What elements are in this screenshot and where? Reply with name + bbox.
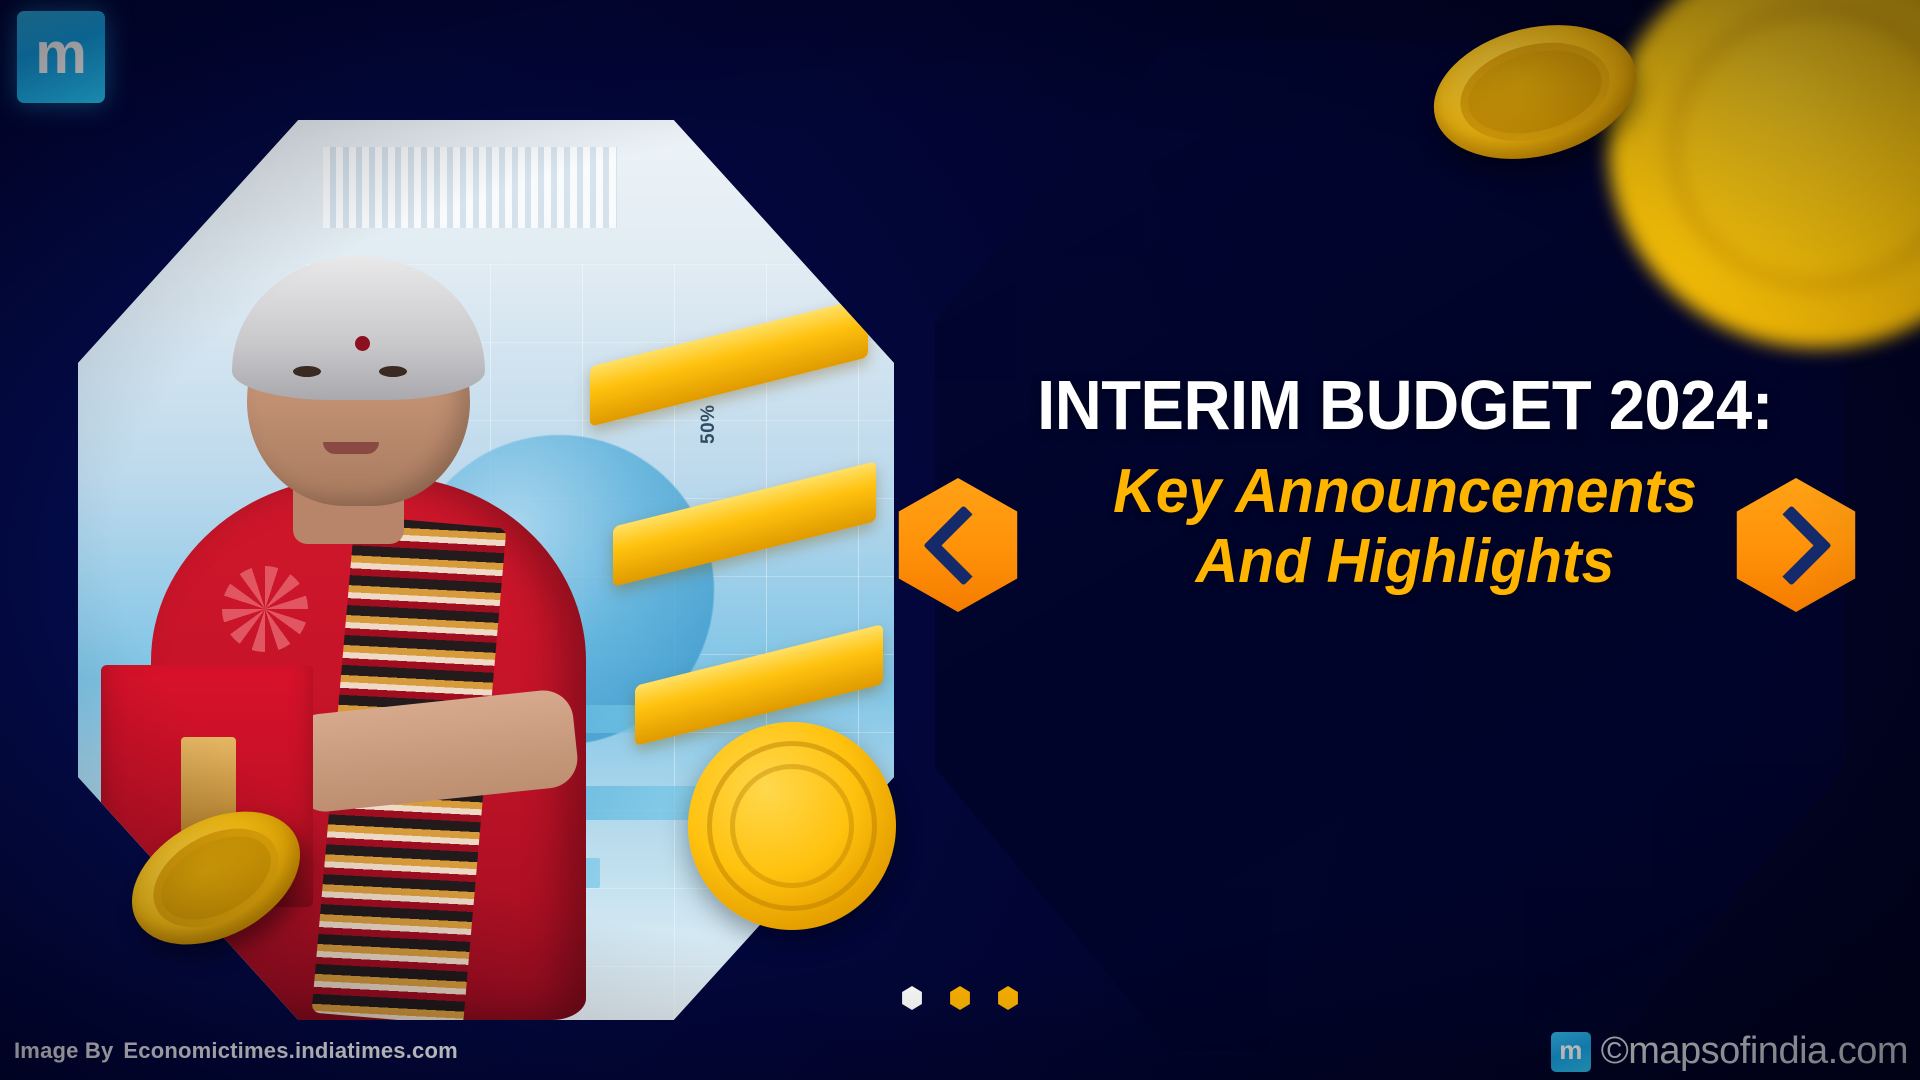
photo-top-banner bbox=[323, 147, 617, 228]
gold-bar bbox=[613, 461, 876, 587]
slide-canvas: 50% 32% 50% 40% bbox=[0, 0, 1920, 1080]
mapsofindia-logo[interactable]: m bbox=[17, 11, 105, 103]
image-credit-source: Economictimes.indiatimes.com bbox=[123, 1038, 457, 1064]
figure-eye-left bbox=[293, 366, 321, 377]
chevron-left-icon bbox=[923, 505, 1004, 586]
sari-motif bbox=[222, 566, 308, 652]
carousel-dot-3[interactable] bbox=[997, 986, 1019, 1010]
gold-bars-graphic bbox=[568, 282, 894, 786]
figure-mouth bbox=[323, 442, 379, 454]
carousel-dots bbox=[0, 986, 1920, 1010]
carousel-dot-1[interactable] bbox=[901, 986, 923, 1010]
image-credit: Image By Economictimes.indiatimes.com bbox=[14, 1038, 458, 1064]
carousel-dot-2[interactable] bbox=[949, 986, 971, 1010]
chevron-right-icon bbox=[1751, 505, 1832, 586]
gold-coin-center bbox=[688, 722, 896, 930]
coin-ring bbox=[1667, 2, 1920, 291]
figure-hair bbox=[232, 256, 485, 400]
site-watermark: m ©mapsofindia.com bbox=[1551, 1030, 1908, 1073]
figure-eye-right bbox=[379, 366, 407, 377]
watermark-text: ©mapsofindia.com bbox=[1601, 1030, 1908, 1073]
gold-bar bbox=[590, 298, 868, 427]
watermark-logo-icon: m bbox=[1551, 1032, 1591, 1072]
image-credit-prefix: Image By bbox=[14, 1038, 113, 1064]
page-title: INTERIM BUDGET 2024: bbox=[935, 370, 1874, 441]
